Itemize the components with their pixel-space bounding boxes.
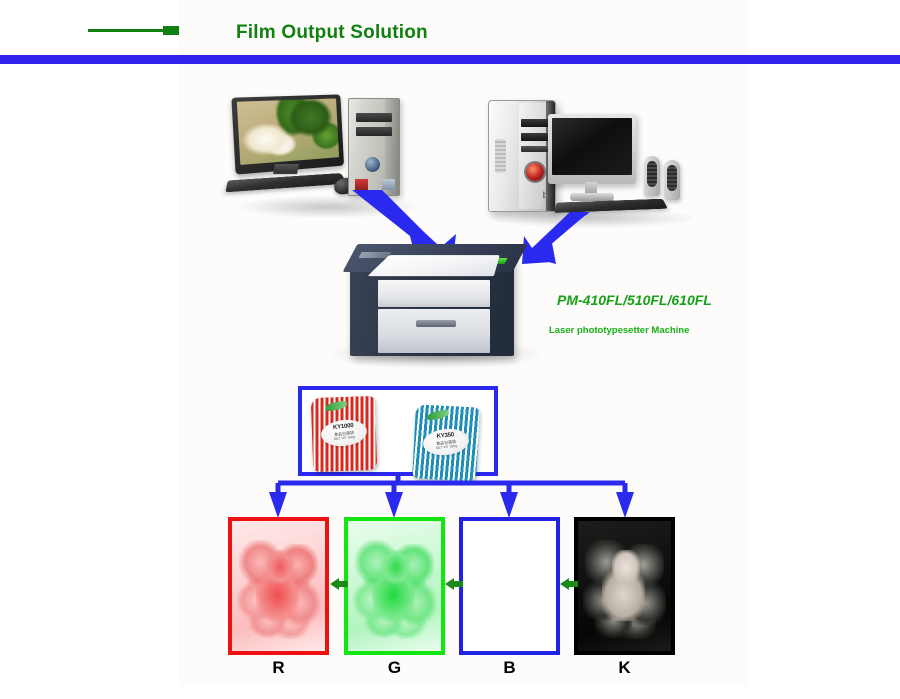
connector-arrowhead: [500, 492, 518, 518]
separation-plate-b[interactable]: [459, 517, 560, 655]
left-monitor-stand: [273, 164, 299, 174]
machine-film-bed: [367, 255, 499, 276]
left-tower-drive-bay: [356, 127, 392, 136]
laser-phototypesetter-machine: [342, 236, 547, 366]
separation-image-b: [463, 521, 556, 651]
plate-label-g: G: [344, 658, 445, 678]
right-speaker: [664, 160, 680, 200]
right-tower-drive-bay: [521, 146, 551, 152]
machine-subtitle-label: Laser phototypesetter Machine: [549, 325, 689, 336]
header-divider-bar: [0, 55, 900, 64]
separation-plate-r[interactable]: [228, 517, 329, 655]
plate-label-b: B: [459, 658, 560, 678]
separation-image-r: [232, 521, 325, 651]
right-tower-vent: [495, 139, 506, 173]
right-keyboard: [554, 199, 668, 213]
right-tower-drive-bay: [521, 119, 551, 127]
left-tower-drive-bay: [356, 113, 392, 122]
connector-arrowhead: [616, 492, 634, 518]
left-keyboard: [225, 173, 347, 192]
header-accent-cap: [163, 26, 179, 35]
left-monitor: [231, 94, 344, 174]
left-tower-logo-icon: [365, 157, 380, 172]
package-blue: KY350 食品包装袋 NET WT 350g: [414, 406, 478, 480]
separation-plate-k[interactable]: [574, 517, 675, 655]
package-red: KY1000 食品包装袋 NET WT 500g: [312, 397, 376, 471]
right-monitor: [548, 114, 636, 184]
left-tower-badge: [355, 179, 368, 190]
flow-arrow-k-to-b: [560, 578, 578, 590]
right-tower-brand-label: b: [543, 190, 549, 200]
machine-front-upper-panel: [378, 280, 490, 307]
right-speaker: [644, 156, 660, 196]
flow-arrow-b-to-g: [445, 578, 463, 590]
slide-canvas: Film Output Solution b: [0, 0, 900, 699]
left-tower: [348, 98, 400, 196]
right-tower-power-button-icon[interactable]: [526, 163, 544, 181]
separation-tree-connector: [0, 470, 900, 526]
plate-label-r: R: [228, 658, 329, 678]
page-title: Film Output Solution: [236, 22, 428, 44]
separation-image-k: [578, 521, 671, 651]
right-tower: b: [488, 100, 556, 212]
connector-arrowhead: [269, 492, 287, 518]
machine-output-drawer[interactable]: [378, 309, 490, 353]
rip-workstation: b: [488, 100, 693, 225]
left-tower-badge: [382, 179, 395, 190]
plate-label-k: K: [574, 658, 675, 678]
connector-arrowhead: [385, 492, 403, 518]
right-tower-drive-bay: [521, 133, 551, 141]
right-monitor-screen: [552, 118, 632, 175]
separation-plate-g[interactable]: [344, 517, 445, 655]
machine-drawer-handle[interactable]: [416, 320, 456, 327]
separation-image-g: [348, 521, 441, 651]
machine-model-label: PM-410FL/510FL/610FL: [557, 292, 712, 308]
left-monitor-screen-wallpaper: [237, 98, 339, 165]
flow-arrow-g-to-r: [330, 578, 348, 590]
artwork-source-box: KY1000 食品包装袋 NET WT 500g KY350 食品包装袋 NET…: [298, 386, 498, 476]
